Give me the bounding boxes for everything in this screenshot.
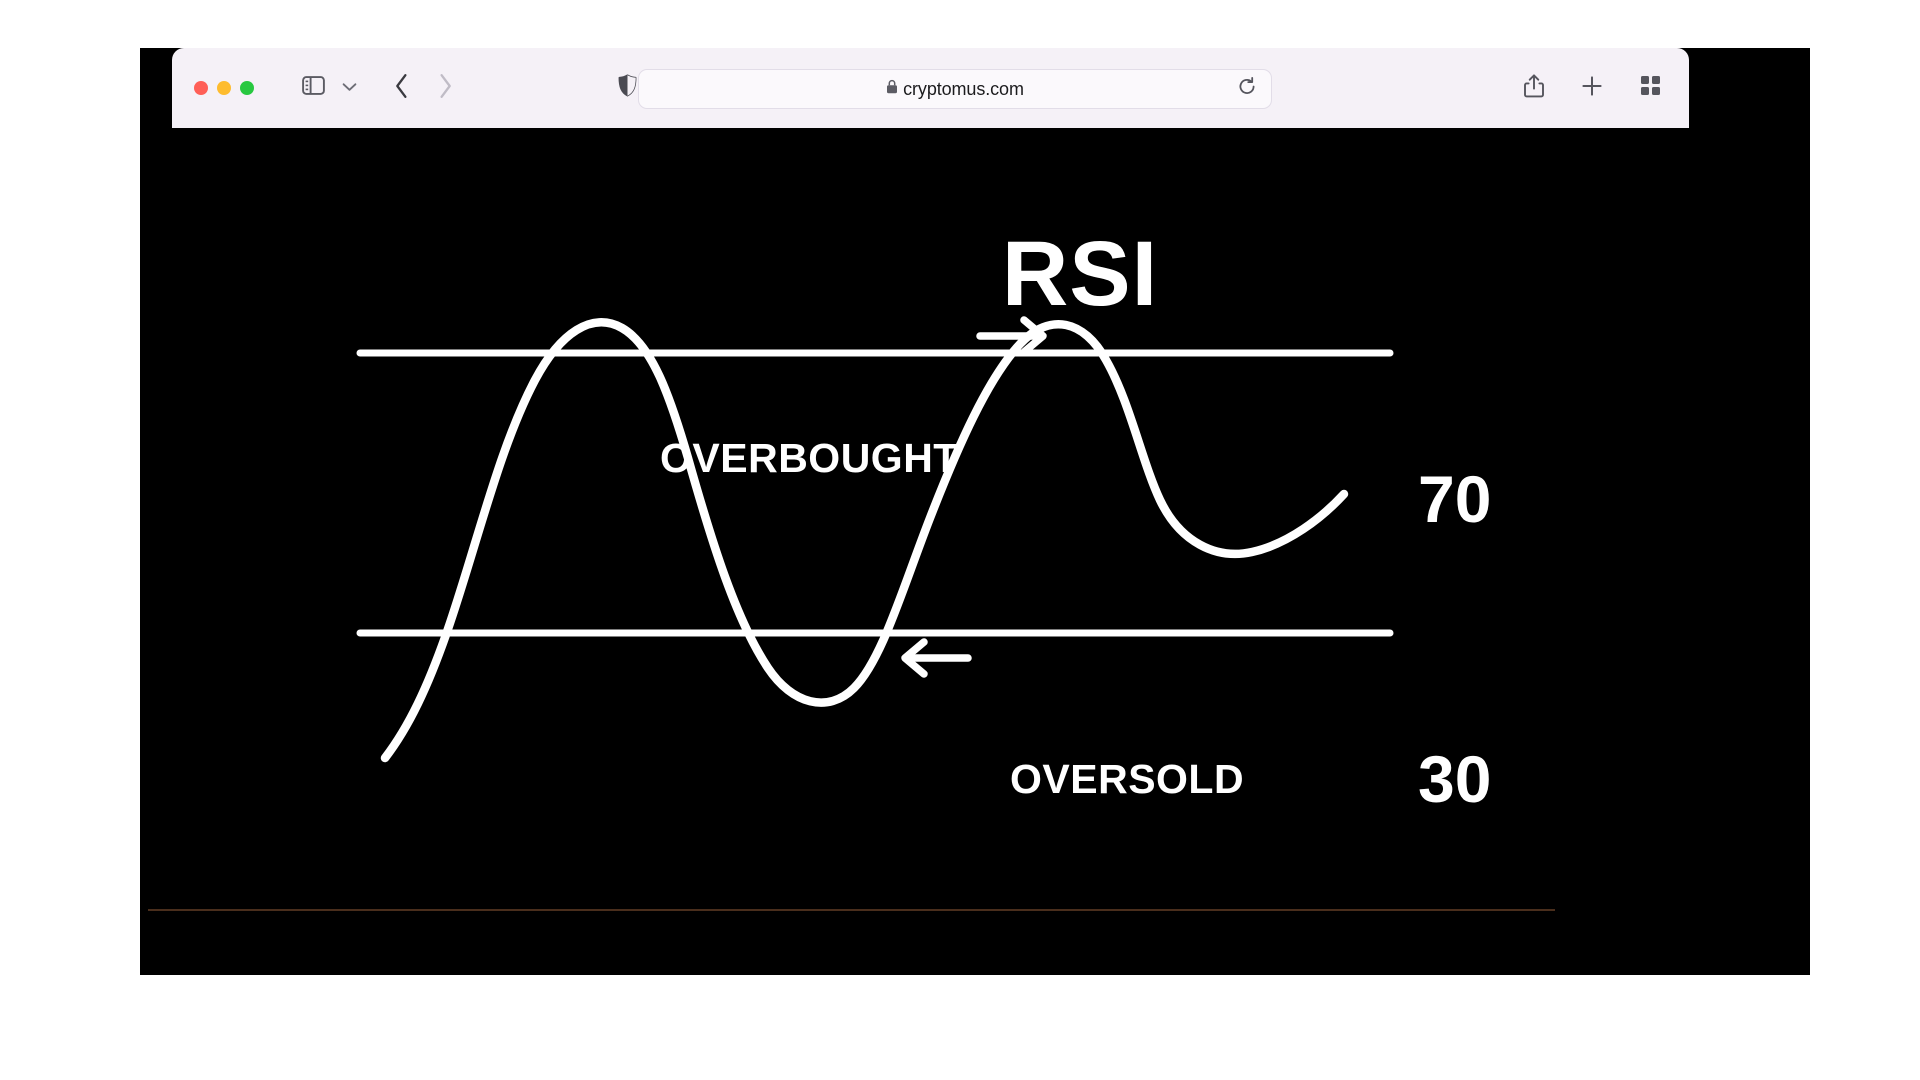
rsi-wave-line [385,322,1344,758]
toolbar-right-actions [1517,71,1667,105]
share-icon [1524,74,1544,103]
level-70-label: 70 [1418,466,1491,532]
address-bar-url: cryptomus.com [903,79,1024,100]
minimize-window-button[interactable] [217,81,231,95]
page-content: RSI [140,128,1810,975]
oversold-label: OVERSOLD [1010,756,1244,803]
address-bar-content: cryptomus.com [886,79,1024,100]
share-button[interactable] [1517,71,1551,105]
level-30-label: 30 [1418,746,1491,812]
tab-group-button[interactable] [332,71,366,105]
close-window-button[interactable] [194,81,208,95]
oversold-arrow-icon [905,642,968,674]
chevron-down-icon [342,79,357,97]
reload-button[interactable] [1237,77,1257,102]
chevron-right-icon [438,73,453,104]
reload-icon [1237,77,1257,102]
browser-window: cryptomus.com [140,48,1810,975]
screenshot-stage: cryptomus.com [0,0,1920,1080]
address-bar[interactable]: cryptomus.com [638,69,1272,109]
shield-icon [618,74,637,102]
sidebar-icon [302,76,325,100]
lock-icon [886,79,898,99]
maximize-window-button[interactable] [240,81,254,95]
overbought-label: OVERBOUGHT [660,435,959,482]
traffic-lights [194,81,254,95]
new-tab-button[interactable] [1575,71,1609,105]
forward-button[interactable] [428,71,462,105]
browser-toolbar: cryptomus.com [172,48,1689,128]
sidebar-toggle-button[interactable] [296,71,330,105]
plus-icon [1581,75,1603,102]
grid-icon [1640,75,1661,101]
back-button[interactable] [384,71,418,105]
chevron-left-icon [394,73,409,104]
rsi-chart [140,128,1810,975]
tab-overview-button[interactable] [1633,71,1667,105]
